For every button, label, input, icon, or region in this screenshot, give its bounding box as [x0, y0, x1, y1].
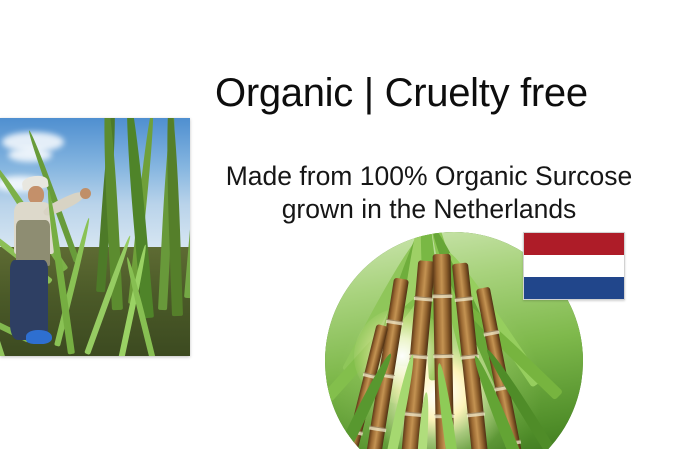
farmer-hand	[80, 188, 91, 199]
farmer-field-photo	[0, 118, 190, 356]
netherlands-flag	[523, 232, 625, 300]
headline: Organic | Cruelty free	[215, 72, 655, 114]
subheadline: Made from 100% Organic Surcose grown in …	[199, 160, 659, 227]
flag-band-white	[524, 255, 624, 277]
flag-band-red	[524, 233, 624, 255]
subheadline-line-1: Made from 100% Organic Surcose	[226, 161, 633, 191]
product-claims-banner: Organic | Cruelty free Made from 100% Or…	[0, 0, 679, 449]
subheadline-line-2: grown in the Netherlands	[199, 193, 659, 226]
cloud-shape	[8, 148, 52, 162]
farmer-shoe	[26, 330, 52, 344]
farmer-trousers	[10, 260, 48, 340]
flag-band-blue	[524, 277, 624, 299]
